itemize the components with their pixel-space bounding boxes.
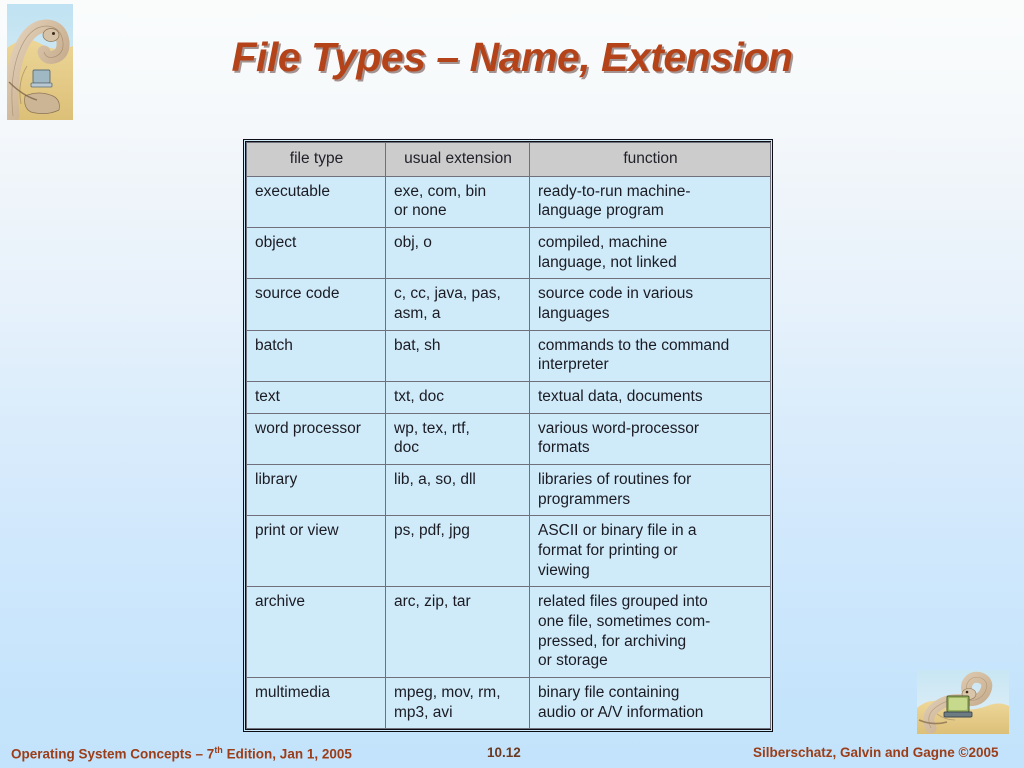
cell-function: ASCII or binary file in a format for pri… [530,516,771,587]
cell-file-type: object [247,228,386,279]
cell-file-type: text [247,382,386,414]
cell-extension: bat, sh [386,330,530,381]
table-row: source code c, cc, java, pas, asm, a sou… [247,279,771,330]
table-row: multimedia mpeg, mov, rm, mp3, avi binar… [247,678,771,729]
cell-extension: txt, doc [386,382,530,414]
table-header-row: file type usual extension function [247,143,771,177]
table-row: batch bat, sh commands to the command in… [247,330,771,381]
column-header-usual-extension: usual extension [386,143,530,177]
cell-extension: arc, zip, tar [386,587,530,678]
cell-extension: exe, com, bin or none [386,176,530,227]
table-row: text txt, doc textual data, documents [247,382,771,414]
cell-file-type: executable [247,176,386,227]
file-types-table: file type usual extension function execu… [246,142,771,729]
table-row: executable exe, com, bin or none ready-t… [247,176,771,227]
cell-function: compiled, machine language, not linked [530,228,771,279]
cell-function: libraries of routines for programmers [530,465,771,516]
column-header-file-type: file type [247,143,386,177]
cell-function: textual data, documents [530,382,771,414]
cell-function: commands to the command interpreter [530,330,771,381]
dinosaur-with-laptop-logo-bottom-right [917,670,1009,734]
cell-extension: c, cc, java, pas, asm, a [386,279,530,330]
cell-file-type: multimedia [247,678,386,729]
cell-function: related files grouped into one file, som… [530,587,771,678]
footer-book-title-prefix: Operating System Concepts – 7 [11,747,214,762]
footer-edition-superscript: th [214,745,223,755]
cell-function: various word-processor formats [530,413,771,464]
cell-extension: mpeg, mov, rm, mp3, avi [386,678,530,729]
cell-extension: obj, o [386,228,530,279]
cell-file-type: source code [247,279,386,330]
cell-file-type: batch [247,330,386,381]
footer-page-number: 10.12 [487,745,521,760]
column-header-function: function [530,143,771,177]
table-row: word processor wp, tex, rtf, doc various… [247,413,771,464]
cell-extension: lib, a, so, dll [386,465,530,516]
cell-file-type: library [247,465,386,516]
footer-copyright: Silberschatz, Galvin and Gagne ©2005 [753,745,999,760]
cell-function: source code in various languages [530,279,771,330]
table-row: print or view ps, pdf, jpg ASCII or bina… [247,516,771,587]
cell-file-type: print or view [247,516,386,587]
table-row: archive arc, zip, tar related files grou… [247,587,771,678]
footer-book-title-suffix: Edition, Jan 1, 2005 [223,747,352,762]
cell-function: binary file containing audio or A/V info… [530,678,771,729]
table-body: executable exe, com, bin or none ready-t… [247,176,771,729]
cell-extension: wp, tex, rtf, doc [386,413,530,464]
page-title: File Types – Name, Extension [0,34,1024,81]
table-row: object obj, o compiled, machine language… [247,228,771,279]
cell-file-type: archive [247,587,386,678]
file-types-table-container: file type usual extension function execu… [243,139,773,732]
footer-book-title: Operating System Concepts – 7th Edition,… [11,745,352,762]
cell-extension: ps, pdf, jpg [386,516,530,587]
table-row: library lib, a, so, dll libraries of rou… [247,465,771,516]
cell-file-type: word processor [247,413,386,464]
cell-function: ready-to-run machine- language program [530,176,771,227]
